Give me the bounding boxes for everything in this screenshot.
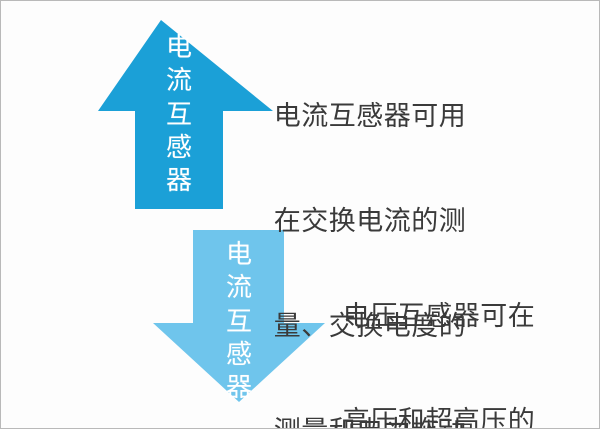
down-arrow-label-char-1: 电 <box>226 239 252 272</box>
up-arrow-label-char-2: 流 <box>166 65 192 98</box>
up-arrow-label-char-1: 电 <box>166 32 192 65</box>
up-arrow-label: 电 流 互 感 器 <box>151 32 207 198</box>
down-arrow-label-char-5: 器 <box>226 372 252 405</box>
down-arrow-label-char-4: 感 <box>226 339 252 372</box>
bottom-text-line-2: 高压和超高压的 <box>331 404 547 429</box>
down-arrow-label-char-2: 流 <box>226 272 252 305</box>
down-arrow-label-char-3: 互 <box>226 306 252 339</box>
up-arrow-label-char-4: 感 <box>166 132 192 165</box>
up-arrow-label-char-3: 互 <box>166 99 192 132</box>
top-text-line-1: 电流互感器可用 <box>259 99 481 134</box>
bottom-text-line-1: 电压互感器可在 <box>331 299 547 334</box>
diagram-canvas: 电 流 互 感 器 电 流 互 感 器 电流互感器可用 在交换电流的测 量、交换… <box>0 0 600 429</box>
up-arrow-label-char-5: 器 <box>166 165 192 198</box>
voltage-transformer-description: 电压互感器可在 高压和超高压的 电力系统中用于 电压和功率的测 量等。 <box>331 229 547 429</box>
